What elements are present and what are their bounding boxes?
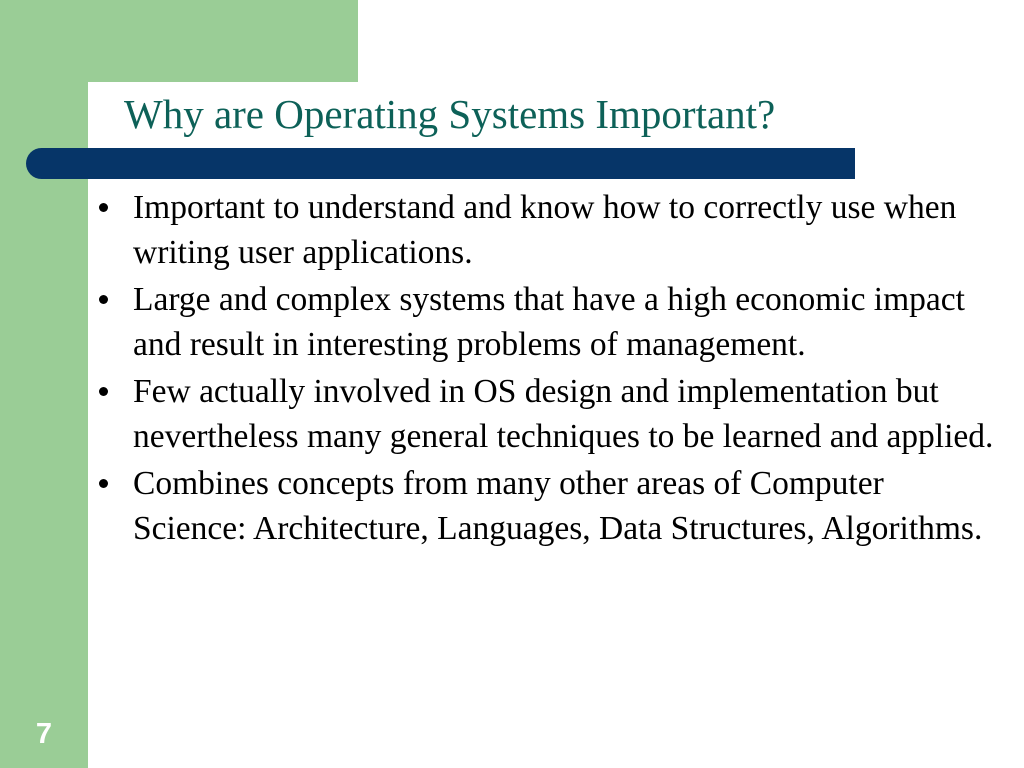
bullet-dot-icon <box>99 387 108 396</box>
bullet-list: Important to understand and know how to … <box>96 186 1002 554</box>
list-item: Few actually involved in OS design and i… <box>96 370 1002 459</box>
list-item-label: Large and complex systems that have a hi… <box>133 278 1002 367</box>
bullet-dot-icon <box>99 479 108 488</box>
page-number: 7 <box>22 716 66 752</box>
list-item-label: Important to understand and know how to … <box>133 186 1002 275</box>
green-header-band <box>0 0 358 82</box>
green-sidebar-band <box>0 0 88 768</box>
slide-canvas: Why are Operating Systems Important? Imp… <box>0 0 1024 768</box>
list-item: Large and complex systems that have a hi… <box>96 278 1002 367</box>
bullet-dot-icon <box>99 203 108 212</box>
list-item-label: Combines concepts from many other areas … <box>133 462 1002 551</box>
list-item-label: Few actually involved in OS design and i… <box>133 370 1002 459</box>
page-title: Why are Operating Systems Important? <box>124 89 1004 145</box>
list-item: Combines concepts from many other areas … <box>96 462 1002 551</box>
navy-accent-bar <box>26 148 855 179</box>
bullet-dot-icon <box>99 295 108 304</box>
list-item: Important to understand and know how to … <box>96 186 1002 275</box>
